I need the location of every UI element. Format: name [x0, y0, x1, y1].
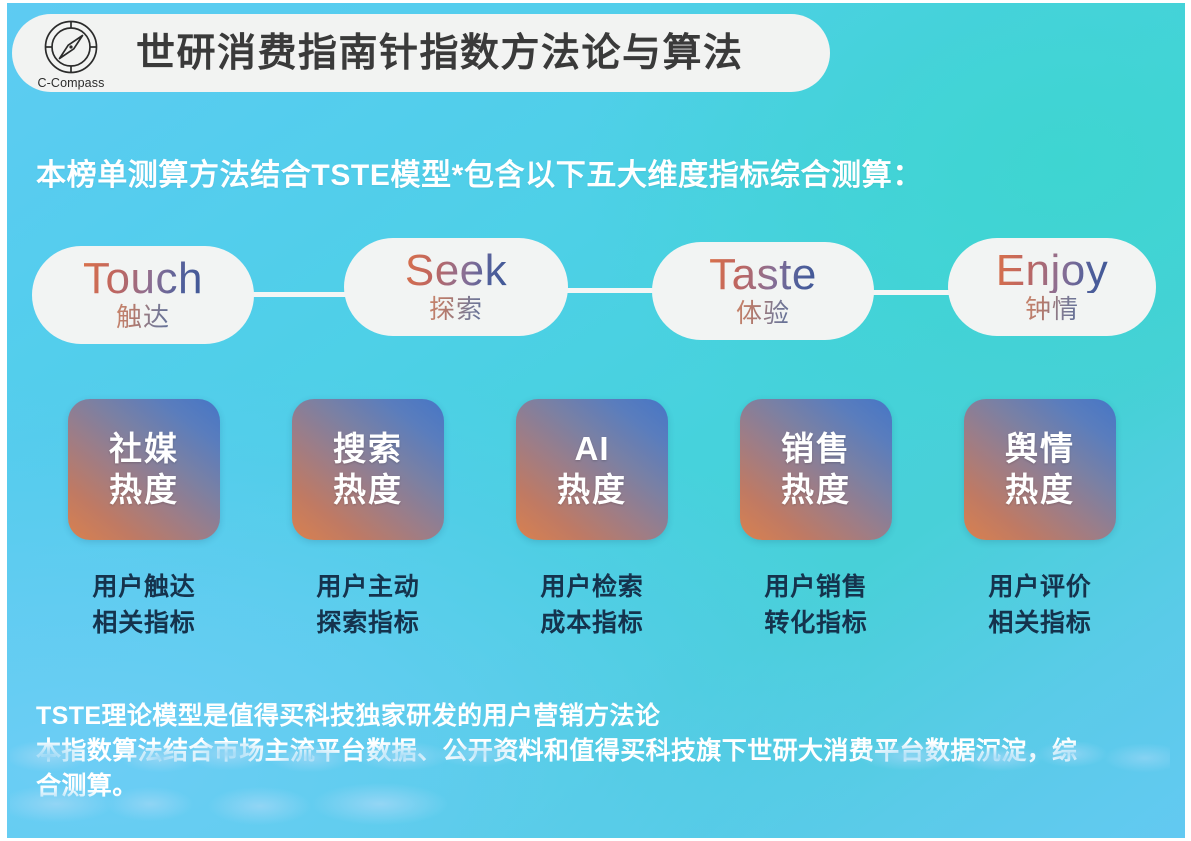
tste-pill-chinese: 钟情	[1025, 295, 1079, 325]
caption-search: 用户主动 探索指标	[273, 570, 463, 641]
tste-pill-chinese: 体验	[736, 299, 790, 329]
tste-pill-english: Touch	[83, 257, 203, 302]
heat-dimension-box-row: 社媒 热度 搜索 热度 AI 热度 销售 热度 舆情 热度	[0, 399, 1191, 543]
tste-pill-taste[interactable]: Taste 体验	[652, 242, 874, 340]
tste-pill-row: Touch 触达 Seek 探索 Taste 体验 Enjoy 钟情	[0, 236, 1191, 354]
caption-line-2: 成本指标	[497, 606, 687, 642]
caption-line-1: 用户触达	[49, 570, 239, 606]
dimension-caption-row: 用户触达 相关指标 用户主动 探索指标 用户检索 成本指标 用户销售 转化指标 …	[0, 570, 1191, 650]
caption-line-1: 用户销售	[721, 570, 911, 606]
tste-pill-touch[interactable]: Touch 触达	[32, 246, 254, 344]
heat-box-line-1: 社媒	[109, 429, 179, 470]
caption-sales: 用户销售 转化指标	[721, 570, 911, 641]
page-title: 世研消费指南针指数方法论与算法	[136, 34, 744, 73]
tste-pill-english: Taste	[709, 253, 817, 298]
tste-pill-chinese: 触达	[116, 303, 170, 333]
heat-box-line-1: 搜索	[333, 429, 403, 470]
heat-box-line-1: AI	[575, 429, 610, 470]
infographic-poster: C-Compass 世研消费指南针指数方法论与算法 本榜单测算方法结合TSTE模…	[0, 0, 1191, 841]
caption-line-1: 用户检索	[497, 570, 687, 606]
heat-box-line-2: 热度	[557, 470, 627, 511]
heat-box-sentiment[interactable]: 舆情 热度	[964, 399, 1116, 540]
caption-sentiment: 用户评价 相关指标	[945, 570, 1135, 641]
heat-box-social[interactable]: 社媒 热度	[68, 399, 220, 540]
pill-connector-1	[240, 292, 360, 297]
tste-pill-seek[interactable]: Seek 探索	[344, 238, 568, 336]
heat-box-line-2: 热度	[333, 470, 403, 511]
caption-line-2: 转化指标	[721, 606, 911, 642]
caption-line-2: 相关指标	[945, 606, 1135, 642]
footer-line-3: 合测算。	[36, 769, 1166, 805]
heat-box-line-2: 热度	[109, 470, 179, 511]
caption-social: 用户触达 相关指标	[49, 570, 239, 641]
heat-box-ai[interactable]: AI 热度	[516, 399, 668, 540]
brand-logo: C-Compass	[12, 14, 130, 92]
tste-pill-chinese: 探索	[429, 295, 483, 325]
footer-line-1: TSTE理论模型是值得买科技独家研发的用户营销方法论	[36, 700, 1166, 734]
caption-line-2: 相关指标	[49, 606, 239, 642]
footer-line-2: 本指数算法结合市场主流平台数据、公开资料和值得买科技旗下世研大消费平台数据沉淀，…	[36, 734, 1166, 770]
caption-line-1: 用户评价	[945, 570, 1135, 606]
subtitle-text: 本榜单测算方法结合TSTE模型*包含以下五大维度指标综合测算：	[36, 150, 923, 194]
heat-box-line-1: 舆情	[1005, 429, 1075, 470]
heat-box-line-2: 热度	[781, 470, 851, 511]
brand-wordmark: C-Compass	[38, 76, 105, 90]
caption-line-2: 探索指标	[273, 606, 463, 642]
caption-line-1: 用户主动	[273, 570, 463, 606]
compass-icon	[42, 18, 100, 76]
heat-box-sales[interactable]: 销售 热度	[740, 399, 892, 540]
tste-pill-english: Enjoy	[996, 249, 1109, 294]
footer-note: TSTE理论模型是值得买科技独家研发的用户营销方法论 本指数算法结合市场主流平台…	[36, 700, 1166, 805]
header-bar: C-Compass 世研消费指南针指数方法论与算法	[12, 14, 830, 92]
caption-ai: 用户检索 成本指标	[497, 570, 687, 641]
tste-pill-enjoy[interactable]: Enjoy 钟情	[948, 238, 1156, 336]
tste-pill-english: Seek	[405, 249, 507, 294]
heat-box-search[interactable]: 搜索 热度	[292, 399, 444, 540]
heat-box-line-1: 销售	[781, 429, 851, 470]
heat-box-line-2: 热度	[1005, 470, 1075, 511]
